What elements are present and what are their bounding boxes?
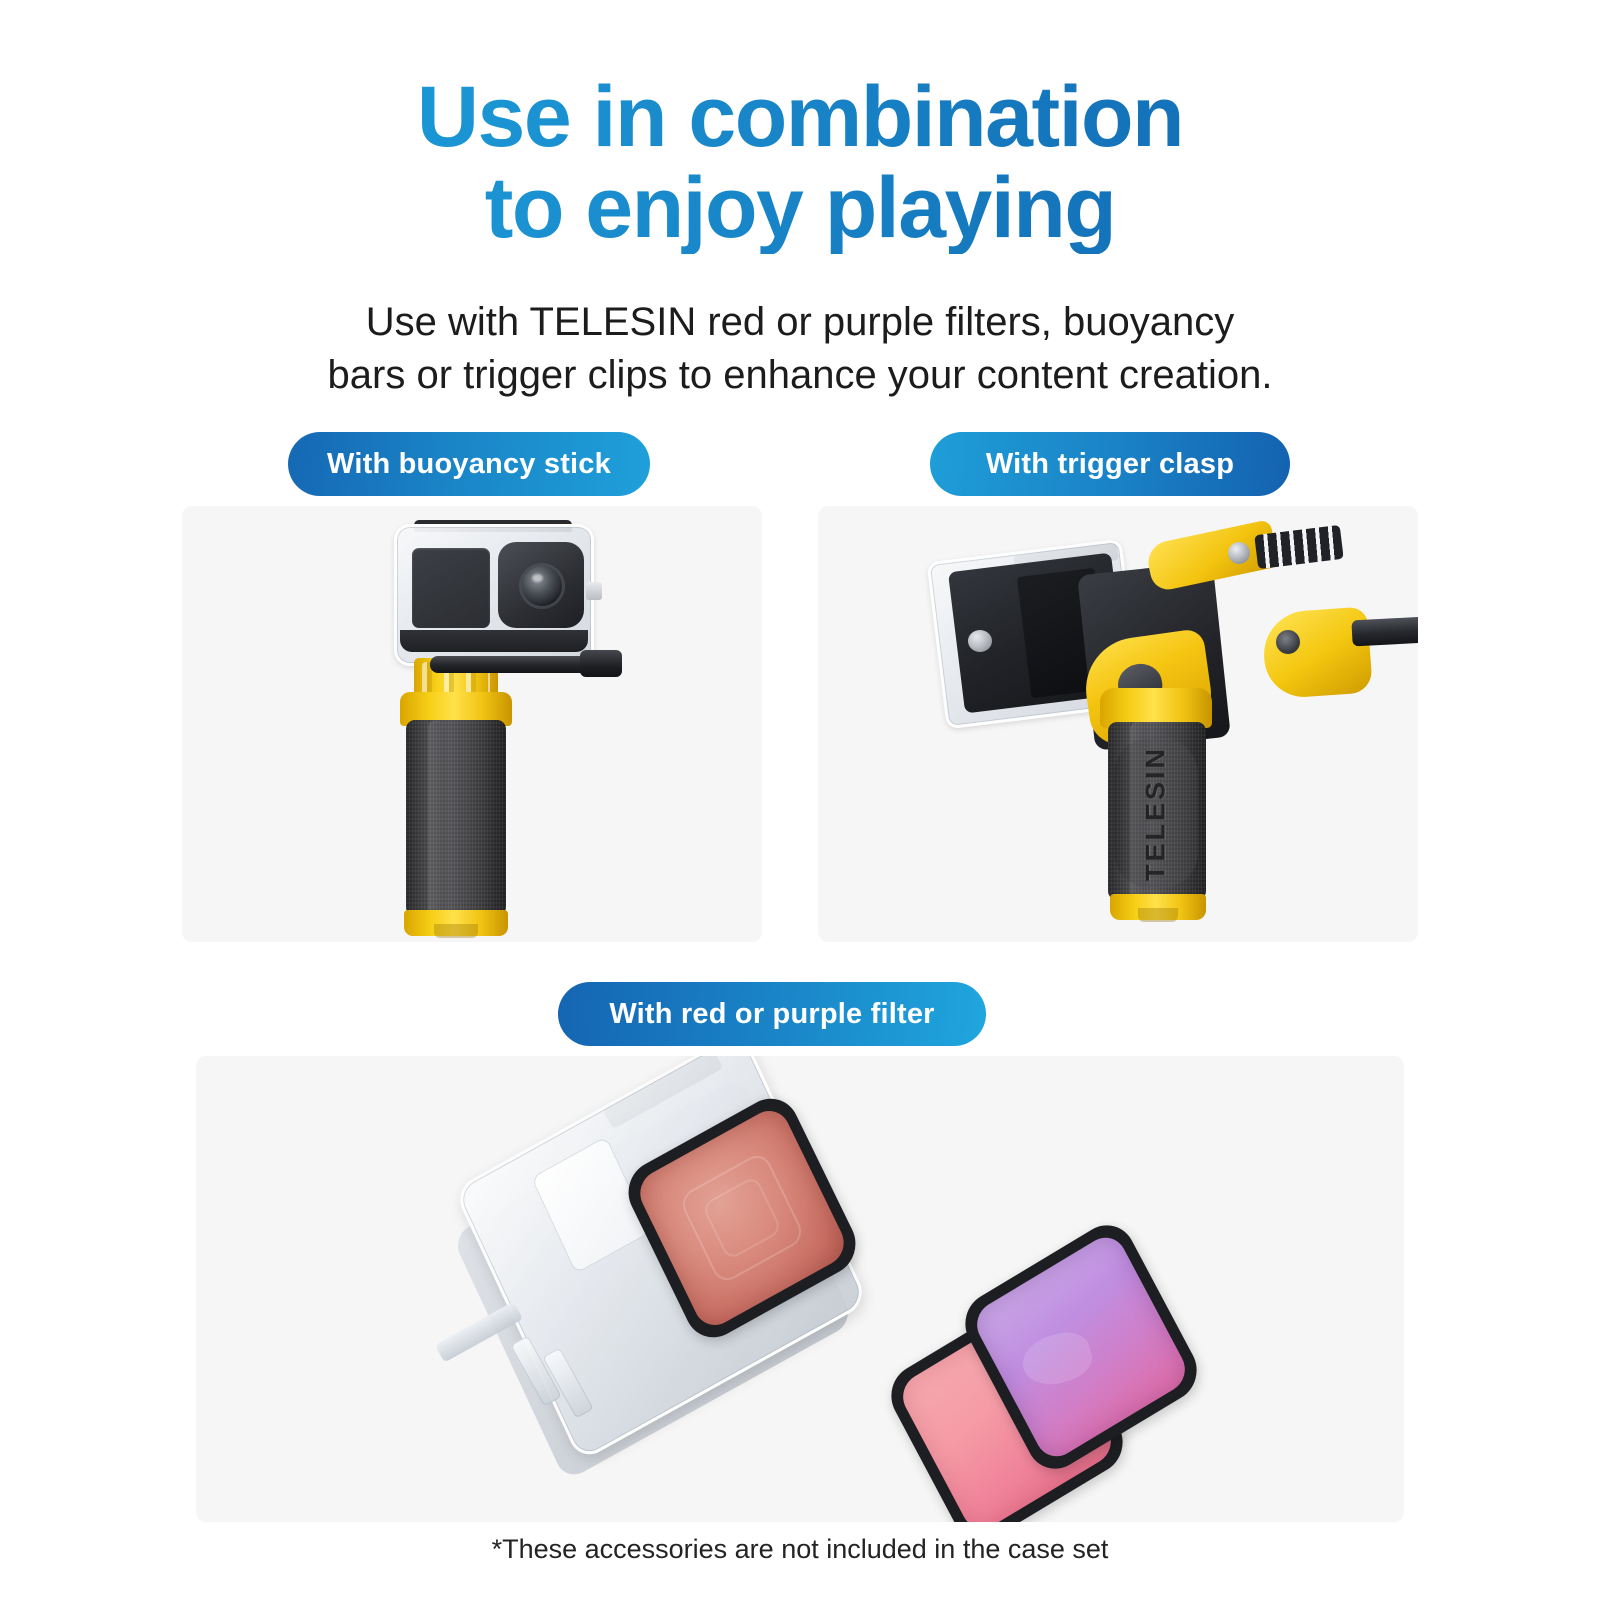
case-screw bbox=[968, 630, 992, 652]
badge-label: With trigger clasp bbox=[986, 448, 1234, 481]
grip-highlight bbox=[428, 720, 444, 916]
photo-trigger-clasp: TELESIN bbox=[818, 506, 1418, 942]
photo-buoyancy-stick bbox=[182, 506, 762, 942]
grip-bottom-notch bbox=[434, 924, 478, 938]
grip-brand-logo: TELESIN bbox=[1114, 738, 1198, 888]
grip-bottom-notch bbox=[1138, 908, 1178, 922]
case-side-button bbox=[586, 582, 602, 600]
knuckle-pivot-hole bbox=[1276, 630, 1300, 654]
top-thumbscrew bbox=[1228, 542, 1250, 564]
photo-red-purple-filter-content bbox=[196, 1056, 1404, 1522]
page-subtitle-line-2: bars or trigger clips to enhance your co… bbox=[150, 349, 1450, 402]
page-subtitle-line-1: Use with TELESIN red or purple filters, … bbox=[366, 300, 1235, 344]
page-title-line-2: to enjoy playing bbox=[0, 163, 1600, 254]
page-title: Use in combination to enjoy playing bbox=[0, 72, 1600, 254]
photo-buoyancy-stick-content bbox=[182, 506, 762, 942]
product-feature-page: Use in combination to enjoy playing Use … bbox=[0, 0, 1600, 1600]
disclaimer-footnote: *These accessories are not included in t… bbox=[0, 1534, 1600, 1565]
mount-thumbscrew-knob bbox=[580, 650, 622, 677]
badge-with-trigger-clasp: With trigger clasp bbox=[930, 432, 1290, 496]
lens-glint bbox=[532, 574, 543, 582]
extension-rod bbox=[1351, 616, 1418, 647]
page-title-line-1: Use in combination bbox=[417, 69, 1183, 165]
buoyancy-grip-handle bbox=[406, 720, 506, 916]
camera-screen bbox=[412, 548, 490, 628]
photo-trigger-clasp-content: TELESIN bbox=[818, 506, 1418, 942]
badge-with-buoyancy-stick: With buoyancy stick bbox=[288, 432, 650, 496]
case-bottom-band bbox=[400, 630, 588, 652]
photo-red-purple-filter bbox=[196, 1056, 1404, 1522]
purple-filter-reflection bbox=[1017, 1325, 1096, 1394]
badge-label: With red or purple filter bbox=[609, 998, 934, 1031]
page-subtitle: Use with TELESIN red or purple filters, … bbox=[150, 296, 1450, 402]
badge-with-red-or-purple-filter: With red or purple filter bbox=[558, 982, 986, 1046]
badge-label: With buoyancy stick bbox=[327, 448, 611, 481]
camera-lens-icon bbox=[522, 566, 562, 606]
